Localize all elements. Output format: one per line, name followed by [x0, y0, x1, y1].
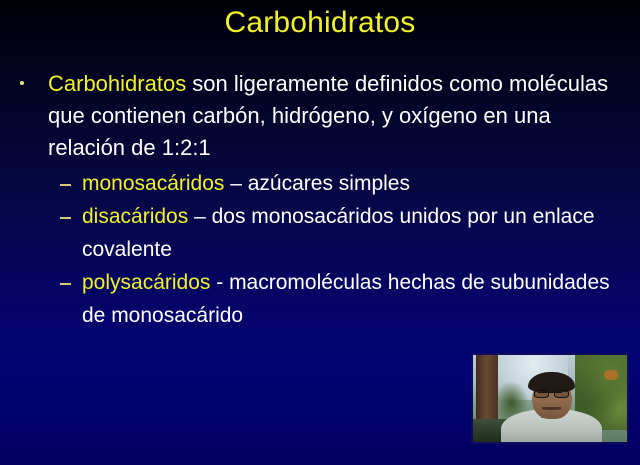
webcam-video-overlay[interactable]: [471, 353, 629, 444]
slide-content-list: Carbohidratos son ligeramente definidos …: [0, 68, 640, 332]
sub-list: monosacáridos – azúcares simples disacár…: [0, 167, 640, 332]
webcam-video-frame: [473, 355, 627, 442]
dash-bullet-icon: [60, 283, 71, 285]
sub-bullet-body-text: – azúcares simples: [224, 172, 410, 195]
list-item: monosacáridos – azúcares simples: [0, 167, 640, 200]
list-item: Carbohidratos son ligeramente definidos …: [0, 68, 640, 164]
dash-bullet-icon: [60, 184, 71, 186]
webcam-glasses-bridge: [538, 392, 563, 394]
sub-bullet-highlight-text: monosacáridos: [82, 172, 224, 195]
page-title: Carbohidratos: [0, 6, 640, 40]
webcam-wooden-post: [476, 355, 498, 419]
webcam-person-mouth: [542, 407, 560, 410]
list-item: disacáridos – dos monosacáridos unidos p…: [0, 200, 640, 266]
bullet-highlight-text: Carbohidratos: [48, 71, 186, 96]
sub-bullet-highlight-text: polysacáridos: [82, 271, 210, 294]
dash-bullet-icon: [60, 217, 71, 219]
presentation-slide: Carbohidratos Carbohidratos son ligerame…: [0, 0, 640, 465]
webcam-foliage-accent: [604, 370, 618, 380]
list-item: polysacáridos - macromoléculas hechas de…: [0, 266, 640, 332]
dot-bullet-icon: [20, 81, 24, 85]
sub-bullet-highlight-text: disacáridos: [82, 205, 188, 228]
